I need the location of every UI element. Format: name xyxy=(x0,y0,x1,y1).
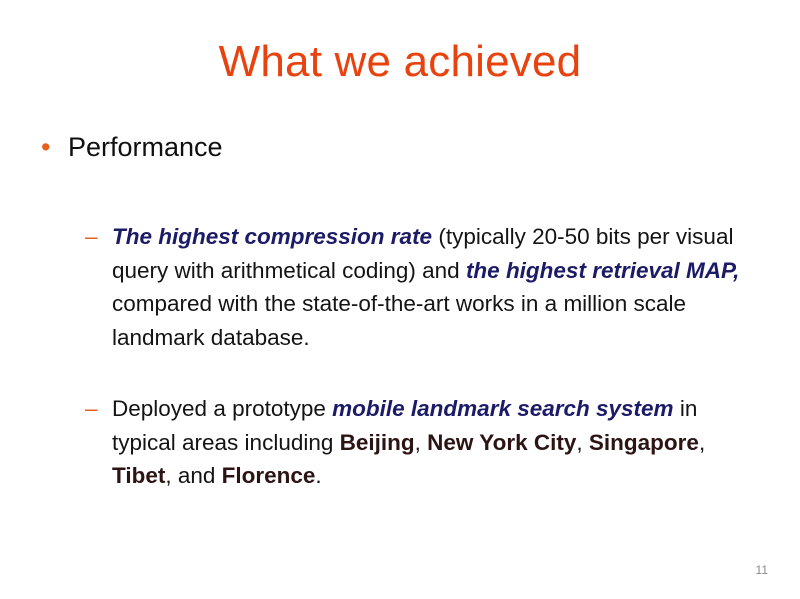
presentation-slide: What we achieved •Performance –The highe… xyxy=(0,0,800,599)
text-deployed-prototype: Deployed a prototype xyxy=(112,396,332,421)
place-beijing: Beijing xyxy=(340,430,415,455)
emphasis-retrieval-map: the highest retrieval MAP xyxy=(466,258,733,283)
bullet-dash-icon: – xyxy=(85,392,98,426)
text-state-of-the-art: compared with the state-of-the-art works… xyxy=(112,291,686,350)
place-singapore: Singapore xyxy=(589,430,699,455)
bullet-dot-icon: • xyxy=(41,131,50,164)
spacer xyxy=(0,164,800,220)
bullet-level1-label: Performance xyxy=(68,132,223,162)
sentence-period: . xyxy=(315,463,321,488)
emphasis-comma: , xyxy=(733,258,739,283)
separator-comma: , xyxy=(699,430,705,455)
emphasis-compression-rate: The highest compression rate xyxy=(112,224,432,249)
emphasis-mobile-landmark-search-system: mobile landmark search system xyxy=(332,396,673,421)
bullet-level2-compression-rate: –The highest compression rate (typically… xyxy=(0,220,800,354)
separator-and: , and xyxy=(165,463,221,488)
place-tibet: Tibet xyxy=(112,463,165,488)
place-new-york-city: New York City xyxy=(427,430,576,455)
separator-comma: , xyxy=(415,430,428,455)
slide-body: •Performance –The highest compression ra… xyxy=(0,131,800,493)
spacer xyxy=(0,354,800,392)
separator-comma: , xyxy=(576,430,589,455)
bullet-level1-performance: •Performance xyxy=(0,131,800,164)
bullet-level2-deployed-prototype: –Deployed a prototype mobile landmark se… xyxy=(0,392,800,493)
place-florence: Florence xyxy=(222,463,316,488)
page-title: What we achieved xyxy=(40,36,760,88)
bullet-dash-icon: – xyxy=(85,220,98,254)
slide-page-number: 11 xyxy=(756,563,768,577)
